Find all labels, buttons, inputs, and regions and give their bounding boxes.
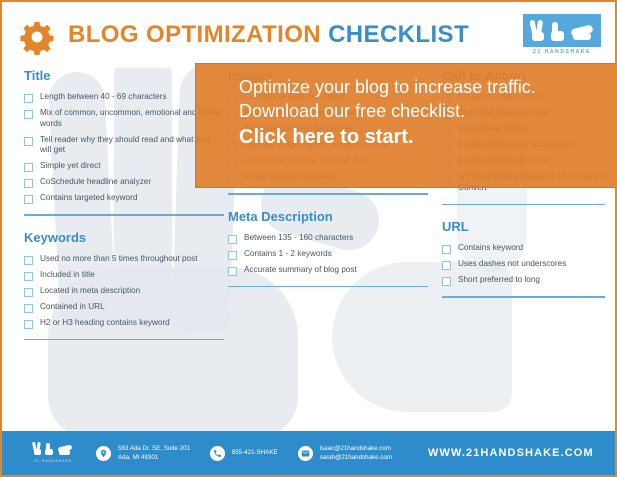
footer-phone[interactable]: 855-421-SHAKE <box>210 446 278 461</box>
checklist-item[interactable]: Simple yet direct <box>24 161 224 172</box>
footer-phone-text: 855-421-SHAKE <box>232 448 278 457</box>
checklist-item[interactable]: Contained in URL <box>24 302 224 313</box>
checkbox-icon[interactable] <box>24 304 33 313</box>
checklist-item[interactable]: Uses dashes not underscores <box>442 259 612 270</box>
checklist-item-label: Accurate summary of blog post <box>244 265 357 276</box>
checklist-item-label: Included in title <box>40 270 95 281</box>
checkbox-icon[interactable] <box>24 163 33 172</box>
checklist-item-label: Length between 40 - 69 characters <box>40 92 167 103</box>
checkbox-icon[interactable] <box>442 245 451 254</box>
page-header: BLOG OPTIMIZATION CHECKLIST 21 HANDSHAKE <box>2 2 615 68</box>
section-divider <box>228 193 428 195</box>
promo-line-1: Optimize your blog to increase traffic. <box>196 64 617 100</box>
checklist-item[interactable]: Mix of common, uncommon, emotional and p… <box>24 108 224 130</box>
checklist-item[interactable]: Between 135 - 160 characters <box>228 233 428 244</box>
column-left: Title Length between 40 - 69 characters … <box>24 68 224 354</box>
section-divider <box>24 214 224 216</box>
phone-icon <box>210 446 225 461</box>
promo-overlay-banner[interactable]: Optimize your blog to increase traffic. … <box>195 63 617 188</box>
checkbox-icon[interactable] <box>24 288 33 297</box>
page-title-primary: BLOG OPTIMIZATION <box>68 21 328 48</box>
checklist-item-label: CoSchedule headline analyzer <box>40 177 151 188</box>
section-title: Title Length between 40 - 69 characters … <box>24 68 224 216</box>
brand-logo: 21 HANDSHAKE <box>523 14 601 58</box>
section-heading-title: Title <box>24 68 224 83</box>
section-divider <box>442 204 605 206</box>
checklist-item-label: Contains 1 - 2 keywords <box>244 249 332 260</box>
section-keywords: Keywords Used no more than 5 times throu… <box>24 230 224 341</box>
checklist-item[interactable]: CoSchedule headline analyzer <box>24 177 224 188</box>
checklist-item-label: Contains keyword <box>458 243 523 254</box>
promo-line-2: Download our free checklist. <box>196 100 617 124</box>
checkbox-icon[interactable] <box>24 195 33 204</box>
footer-emails[interactable]: isaac@21handshake.com sarah@21handshake.… <box>298 444 392 463</box>
checkbox-icon[interactable] <box>24 110 33 119</box>
checklist-item[interactable]: Located in meta description <box>24 286 224 297</box>
promo-cta-link[interactable]: Click here to start. <box>196 124 617 151</box>
email-secondary[interactable]: sarah@21handshake.com <box>320 454 392 461</box>
section-divider <box>442 296 605 298</box>
page-title: BLOG OPTIMIZATION CHECKLIST <box>68 21 469 49</box>
checklist-item-label: Located in meta description <box>40 286 140 297</box>
checklist-item-label: Short preferred to long <box>458 275 540 286</box>
checklist-page: BLOG OPTIMIZATION CHECKLIST 21 HANDSHAKE… <box>0 0 617 477</box>
address-line-1: 583 Ada Dr. SE, Suite 201 <box>118 445 190 452</box>
checkbox-icon[interactable] <box>228 235 237 244</box>
gear-icon <box>19 19 55 55</box>
checklist-item[interactable]: Short preferred to long <box>442 275 612 286</box>
checkbox-icon[interactable] <box>24 94 33 103</box>
checklist-item-label: H2 or H3 heading contains keyword <box>40 318 170 329</box>
checklist-item[interactable]: Contains keyword <box>442 243 612 254</box>
checkbox-icon[interactable] <box>24 320 33 329</box>
checklist-item[interactable]: Contains targeted keyword <box>24 193 224 204</box>
checklist-item[interactable]: Included in title <box>24 270 224 281</box>
footer-logo-caption: 21 HANDSHAKE <box>30 459 76 463</box>
address-line-2: Ada, MI 49301 <box>118 454 158 461</box>
checklist-item[interactable]: Contains 1 - 2 keywords <box>228 249 428 260</box>
checkbox-icon[interactable] <box>442 261 451 270</box>
section-heading-keywords: Keywords <box>24 230 224 245</box>
footer-address: 583 Ada Dr. SE, Suite 201 Ada, MI 49301 <box>96 444 190 463</box>
section-heading-meta-description: Meta Description <box>228 209 428 224</box>
checkbox-icon[interactable] <box>228 267 237 276</box>
checkbox-icon[interactable] <box>24 272 33 281</box>
footer-address-text: 583 Ada Dr. SE, Suite 201 Ada, MI 49301 <box>118 444 190 463</box>
checkbox-icon[interactable] <box>24 256 33 265</box>
checklist-item[interactable]: Used no more than 5 times throughout pos… <box>24 254 224 265</box>
page-title-secondary: CHECKLIST <box>328 21 469 48</box>
footer-website-link[interactable]: WWW.21HANDSHAKE.COM <box>428 447 594 459</box>
checkbox-icon[interactable] <box>228 251 237 260</box>
envelope-icon <box>298 446 313 461</box>
checklist-item[interactable]: Length between 40 - 69 characters <box>24 92 224 103</box>
checkbox-icon[interactable] <box>24 179 33 188</box>
checklist-item-label: Contains targeted keyword <box>40 193 137 204</box>
email-primary[interactable]: isaac@21handshake.com <box>320 445 391 452</box>
page-footer: 21 HANDSHAKE 583 Ada Dr. SE, Suite 201 A… <box>2 431 615 475</box>
section-heading-url: URL <box>442 219 612 234</box>
checklist-item-label: Uses dashes not underscores <box>458 259 566 270</box>
checklist-item-label: Used no more than 5 times throughout pos… <box>40 254 197 265</box>
footer-email-text: isaac@21handshake.com sarah@21handshake.… <box>320 444 392 463</box>
checklist-item[interactable]: Tell reader why they should read and wha… <box>24 135 224 157</box>
checklist-item-label: Contained in URL <box>40 302 105 313</box>
section-meta-description: Meta Description Between 135 - 160 chara… <box>228 209 428 288</box>
section-url: URL Contains keyword Uses dashes not und… <box>442 219 612 298</box>
checklist-item-label: Simple yet direct <box>40 161 101 172</box>
footer-logo: 21 HANDSHAKE <box>30 440 76 466</box>
section-divider <box>228 286 428 288</box>
checkbox-icon[interactable] <box>442 277 451 286</box>
section-divider <box>24 339 224 341</box>
logo-caption: 21 HANDSHAKE <box>523 49 601 55</box>
logo-hands-icon <box>523 14 601 47</box>
location-pin-icon <box>96 446 111 461</box>
checkbox-icon[interactable] <box>24 137 33 146</box>
checklist-item[interactable]: Accurate summary of blog post <box>228 265 428 276</box>
checklist-item-label: Between 135 - 160 characters <box>244 233 353 244</box>
checklist-item[interactable]: H2 or H3 heading contains keyword <box>24 318 224 329</box>
